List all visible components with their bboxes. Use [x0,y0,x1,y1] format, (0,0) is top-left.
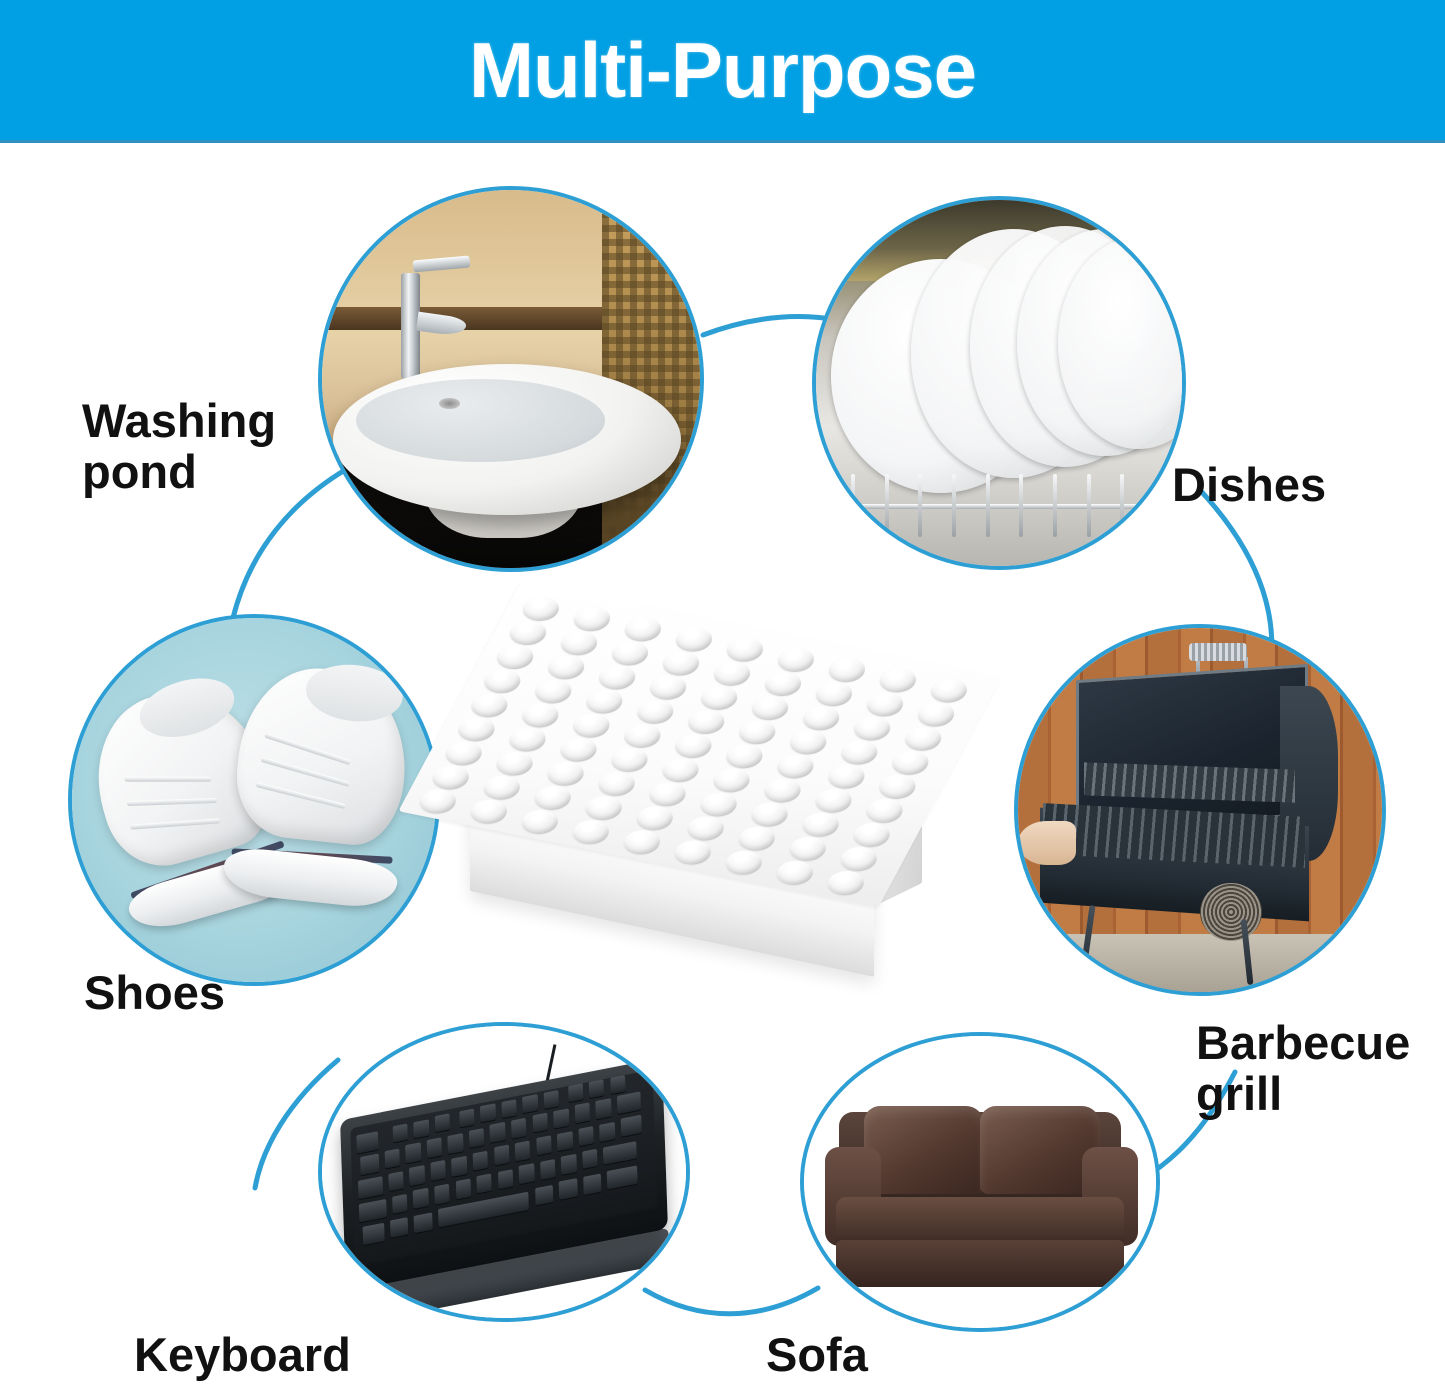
photo-keyboard [322,1026,686,1318]
label-shoes: Shoes [84,968,225,1019]
sponge-dimple [670,731,717,761]
photo-shoes [72,618,436,982]
sponge-dimple [900,724,947,754]
sponge-dimple [607,638,654,668]
sponge-dimple [581,687,628,717]
sponge-dimple [555,735,602,765]
sponge-dimple [683,707,730,737]
page-title: Multi-Purpose [469,31,976,109]
bubble-sofa [800,1032,1160,1332]
sponge-dimple [784,834,831,864]
photo-dishes [816,200,1182,566]
photo-sofa [804,1036,1156,1328]
sponge-dimple [542,759,589,789]
sponge-dimple [913,700,960,730]
sponge-dimple [517,807,564,837]
sponge-dimple [682,813,729,843]
sponge-dimple [466,690,513,720]
infographic-canvas: Multi-Purpose [0,0,1445,1400]
sponge-dimple [453,714,500,744]
label-barbecue-grill: Barbecue grill [1196,1018,1410,1120]
sponge-dimple [619,721,666,751]
sponge-dimple [427,762,474,792]
sponge-dimple [556,628,603,658]
sponge-dimple [671,624,718,654]
photo-washing-pond [322,190,700,568]
sponge-dimple [823,868,870,898]
sponge-dimple [708,765,755,795]
label-sofa: Sofa [766,1330,868,1381]
sponge-dimple [862,689,909,719]
header-banner: Multi-Purpose [0,0,1445,143]
label-dishes: Dishes [1172,460,1326,511]
sponge-dimple [874,772,921,802]
sponge-dimple [670,838,717,868]
bubble-shoes [68,614,440,986]
sponge-dimple [606,745,653,775]
sponge-dimple [492,642,539,672]
product-sponge [452,600,957,1000]
sponge-dimple [543,652,590,682]
sponge-dimple [887,748,934,778]
sponge-dimple [505,618,552,648]
sponge-dimple [811,679,858,709]
sponge-dimple [569,604,616,634]
sponge-dimple [849,713,896,743]
sponge-dimple [504,724,551,754]
label-washing-pond: Washing pond [82,396,276,498]
sponge-dimple [709,659,756,689]
sponge-dimple [479,666,526,696]
sponge-dimple [415,787,462,817]
sponge-dimple [747,693,794,723]
bubble-keyboard [318,1022,690,1322]
sponge-dimple [824,655,871,685]
sponge-dimple [466,797,513,827]
sponge-dimple [836,738,883,768]
sponge-dimple [632,697,679,727]
bubble-dishes [812,196,1186,570]
sponge-dimple [733,824,780,854]
sponge-dimple [478,773,525,803]
sponge-dimple [823,762,870,792]
sponge-dimple [568,817,615,847]
sponge-dimple [848,820,895,850]
sponge-dimple [721,741,768,771]
bubble-barbecue-grill [1014,624,1386,996]
sponge-dimple [785,727,832,757]
sponge-dimple [440,738,487,768]
sponge-dimple [810,786,857,816]
sponge-dimple [620,614,667,644]
sponge-dimple [760,669,807,699]
sponge-dimple [798,703,845,733]
sponge-dimple [593,769,640,799]
sponge-dimple [772,858,819,888]
sponge-dimple [746,800,793,830]
sponge-dimple [631,803,678,833]
sponge-dimple [594,662,641,692]
sponge-dimple [835,844,882,874]
photo-barbecue-grill [1018,628,1382,992]
sponge-dimple [529,783,576,813]
label-keyboard: Keyboard [134,1330,351,1381]
sponge-dimple [695,789,742,819]
sponge-dimple [773,645,820,675]
sponge-dimple [696,683,743,713]
sponge-dimple [530,676,577,706]
sponge-dimple [722,635,769,665]
sponge-dimple [491,749,538,779]
sponge-dimple [580,793,627,823]
sponge-dimple [926,675,973,705]
sponge-dimple [658,649,705,679]
sponge-dimple [759,775,806,805]
bubble-washing-pond [318,186,704,572]
sponge-dimple [734,717,781,747]
sponge-dimple [797,810,844,840]
sponge-dimple [619,827,666,857]
sponge-dimple [518,594,565,624]
sponge-dimple [644,779,691,809]
sponge-dimple [721,848,768,878]
sponge-dimple [568,711,615,741]
sponge-dimple [645,673,692,703]
sponge-dimple [875,665,922,695]
sponge-dimple [772,751,819,781]
sponge-dimple [861,796,908,826]
sponge-dimple [517,700,564,730]
sponge-dimple [657,755,704,785]
